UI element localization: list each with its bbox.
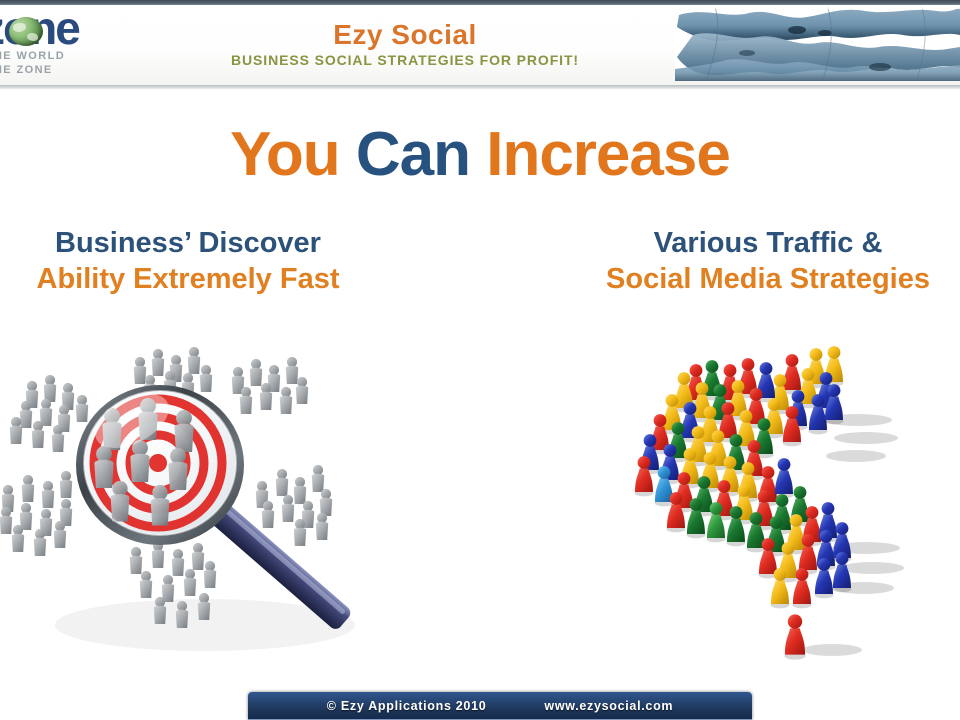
logo-tagline: ONE WORLD ONE ZONE [0, 49, 65, 77]
magnifying-glass-target-crowd-image [0, 325, 400, 675]
world-map-svg [675, 5, 960, 85]
slide-header: zone ONE WORLD ONE ZONE Ezy Social BUSIN… [0, 5, 960, 85]
page-title-part-can: Can [356, 120, 486, 189]
page-title: You Can Increase [0, 122, 960, 188]
logo-tagline-line2: ONE ZONE [0, 63, 65, 77]
pawn-crowd-svg [620, 320, 960, 680]
website-link[interactable]: www.ezysocial.com [544, 699, 673, 713]
right-heading-line2: Social Media Strategies [566, 261, 960, 297]
presentation-slide: zone ONE WORLD ONE ZONE Ezy Social BUSIN… [0, 0, 960, 720]
header-divider [0, 85, 960, 89]
globe-icon [9, 17, 43, 46]
page-title-part-you: You [230, 120, 356, 189]
left-column-heading: Business’ Discover Ability Extremely Fas… [0, 225, 390, 297]
footer-bar: © Ezy Applications 2010 www.ezysocial.co… [248, 692, 752, 720]
magnifier-crowd-svg [0, 325, 400, 675]
right-heading-line1: Various Traffic & [566, 225, 960, 261]
world-map-icon [675, 5, 960, 85]
brand-lockup: Ezy Social BUSINESS SOCIAL STRATEGIES FO… [150, 19, 660, 69]
logo-tagline-line1: ONE WORLD [0, 49, 65, 63]
left-heading-line2: Ability Extremely Fast [0, 261, 390, 297]
colored-pawns-crowd-image [620, 320, 960, 680]
left-heading-line1: Business’ Discover [0, 225, 390, 261]
page-title-part-increase: Increase [486, 120, 730, 189]
zone-logo: zone ONE WORLD ONE ZONE [0, 5, 122, 83]
right-column-heading: Various Traffic & Social Media Strategie… [566, 225, 960, 297]
brand-name: Ezy Social [150, 19, 660, 51]
copyright-text: © Ezy Applications 2010 [327, 699, 487, 713]
brand-tagline: BUSINESS SOCIAL STRATEGIES FOR PROFIT! [150, 51, 660, 69]
